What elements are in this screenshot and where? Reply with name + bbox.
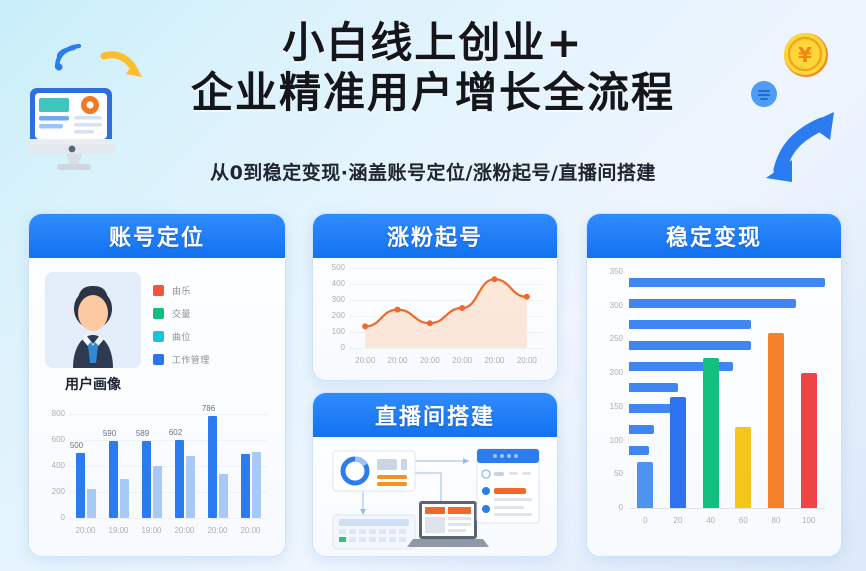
data-point[interactable] xyxy=(492,276,498,282)
column-bar[interactable] xyxy=(801,373,817,508)
y-axis-tick: 0 xyxy=(319,343,345,352)
y-axis-tick: 600 xyxy=(41,435,65,444)
y-axis-tick: 200 xyxy=(593,368,623,377)
bar-primary[interactable] xyxy=(76,453,85,518)
chart-revenue[interactable]: 050100150200250300350020406080100 xyxy=(593,266,833,546)
column-bar[interactable] xyxy=(637,462,653,508)
bar-secondary[interactable] xyxy=(87,489,96,518)
column-bar[interactable] xyxy=(670,397,686,508)
y-axis-tick: 200 xyxy=(319,311,345,320)
gridline xyxy=(69,492,267,493)
chart-followers[interactable]: 010020030040050020:0020:0020:0020:0020:0… xyxy=(319,264,549,372)
x-axis-tick: 20:00 xyxy=(479,356,511,365)
bar-value-label: 500 xyxy=(65,441,89,450)
axis-line xyxy=(629,508,825,509)
x-axis-tick: 20:00 xyxy=(349,356,381,365)
gridline xyxy=(349,348,543,349)
legend-swatch-icon xyxy=(153,308,164,319)
funnel-bar[interactable] xyxy=(629,341,751,350)
avatar xyxy=(45,272,141,368)
y-axis-tick: 0 xyxy=(41,513,65,522)
funnel-bar[interactable] xyxy=(629,446,649,455)
funnel-bar[interactable] xyxy=(629,299,796,308)
title-block: 小白线上创业+ 企业精准用户增长全流程 xyxy=(133,18,733,117)
avatar-caption: 用户画像 xyxy=(45,374,141,394)
wifi-signal-icon xyxy=(48,40,88,74)
column-bar[interactable] xyxy=(768,333,784,508)
page-header: 小白线上创业+ 企业精准用户增长全流程 从0到稳定变现·涵盖账号定位/涨粉起号/… xyxy=(0,0,866,200)
monitor-icon xyxy=(26,82,122,174)
x-axis-tick: 20:00 xyxy=(414,356,446,365)
card-title: 稳定变现 xyxy=(666,220,762,252)
x-axis-tick: 20:00 xyxy=(169,526,201,535)
bar-secondary[interactable] xyxy=(120,479,129,518)
legend-label: 由乐 xyxy=(172,284,191,297)
x-axis-tick: 20:00 xyxy=(382,356,414,365)
card-header: 账号定位 xyxy=(29,214,285,258)
data-point[interactable] xyxy=(524,294,530,300)
double-curved-arrow-icon xyxy=(760,98,846,184)
wifi-dot-icon xyxy=(55,63,62,70)
card-header: 稳定变现 xyxy=(587,214,841,258)
bar-secondary[interactable] xyxy=(153,466,162,518)
plot-area xyxy=(349,268,543,348)
bar-secondary[interactable] xyxy=(219,474,228,518)
livestream-workflow-diagram xyxy=(319,443,549,551)
y-axis-tick: 300 xyxy=(593,301,623,310)
legend-swatch-icon xyxy=(153,331,164,342)
line-series xyxy=(349,268,543,348)
page-title-line-1: 小白线上创业+ xyxy=(133,18,733,68)
x-axis-tick: 40 xyxy=(695,516,727,525)
y-axis-tick: 100 xyxy=(593,436,623,445)
legend-swatch-icon xyxy=(153,354,164,365)
legend-item[interactable]: 工作管理 xyxy=(153,353,210,366)
user-portrait-icon xyxy=(45,272,141,368)
bar-primary[interactable] xyxy=(109,441,118,518)
bar-value-label: 589 xyxy=(131,429,155,438)
y-axis-tick: 500 xyxy=(319,263,345,272)
legend-item[interactable]: 曲位 xyxy=(153,330,210,343)
bar-primary[interactable] xyxy=(241,454,250,518)
profile-row: 用户画像 由乐 交量 曲位 工作管理 xyxy=(37,266,277,394)
card-body: 用户画像 由乐 交量 曲位 工作管理 xyxy=(29,258,285,556)
y-axis-tick: 400 xyxy=(41,461,65,470)
x-axis-tick: 20:00 xyxy=(235,526,267,535)
bar-value-label: 786 xyxy=(197,404,221,413)
legend-label: 交量 xyxy=(172,307,191,320)
x-axis-tick: 19:00 xyxy=(103,526,135,535)
legend-swatch-icon xyxy=(153,285,164,296)
bar-value-label: 602 xyxy=(164,428,188,437)
data-point[interactable] xyxy=(395,307,401,313)
card-monetization[interactable]: 稳定变现 050100150200250300350020406080100 xyxy=(586,213,842,557)
y-axis-tick: 200 xyxy=(41,487,65,496)
bar-secondary[interactable] xyxy=(252,452,261,518)
card-header: 直播间搭建 xyxy=(313,393,557,437)
page-title-line-2: 企业精准用户增长全流程 xyxy=(133,68,733,118)
card-title: 涨粉起号 xyxy=(387,220,483,252)
page-subtitle: 从0到稳定变现·涵盖账号定位/涨粉起号/直播间搭建 xyxy=(133,158,733,185)
gridline xyxy=(69,440,267,441)
y-axis-tick: 100 xyxy=(319,327,345,336)
gridline xyxy=(69,466,267,467)
x-axis-tick: 80 xyxy=(760,516,792,525)
bar-primary[interactable] xyxy=(142,441,151,518)
bar-primary[interactable] xyxy=(208,416,217,518)
legend-item[interactable]: 由乐 xyxy=(153,284,210,297)
funnel-bar[interactable] xyxy=(629,425,654,434)
gridline xyxy=(69,518,267,519)
funnel-bar[interactable] xyxy=(629,320,751,329)
card-body xyxy=(313,437,557,556)
legend-item[interactable]: 交量 xyxy=(153,307,210,320)
x-axis-tick: 20:00 xyxy=(202,526,234,535)
avatar-block: 用户画像 xyxy=(45,272,141,394)
x-axis-tick: 20:00 xyxy=(511,356,543,365)
svg-text:¥: ¥ xyxy=(798,43,812,67)
legend-label: 曲位 xyxy=(172,330,191,343)
card-body: 010020030040050020:0020:0020:0020:0020:0… xyxy=(313,258,557,380)
bar-secondary[interactable] xyxy=(186,456,195,518)
y-axis-tick: 300 xyxy=(319,295,345,304)
card-follower-growth[interactable]: 涨粉起号 010020030040050020:0020:0020:0020:0… xyxy=(312,213,558,381)
chart-sessions[interactable]: 020040060080050020:0059019:0058919:00602… xyxy=(37,406,277,546)
card-account-positioning[interactable]: 账号定位 用户画像 xyxy=(28,213,286,557)
data-point[interactable] xyxy=(459,305,465,311)
card-livestream-setup[interactable]: 直播间搭建 xyxy=(312,392,558,557)
y-axis-tick: 400 xyxy=(319,279,345,288)
x-axis-tick: 20 xyxy=(662,516,694,525)
plot-area xyxy=(629,272,825,508)
y-axis-tick: 50 xyxy=(593,469,623,478)
column-bar[interactable] xyxy=(703,358,719,508)
y-axis-tick: 0 xyxy=(593,503,623,512)
legend-label: 工作管理 xyxy=(172,353,210,366)
card-title: 直播间搭建 xyxy=(375,399,495,431)
funnel-bar[interactable] xyxy=(629,278,825,287)
x-axis-tick: 0 xyxy=(629,516,661,525)
y-axis-tick: 800 xyxy=(41,409,65,418)
card-header: 涨粉起号 xyxy=(313,214,557,258)
data-point[interactable] xyxy=(427,320,433,326)
y-axis-tick: 250 xyxy=(593,334,623,343)
y-axis-tick: 150 xyxy=(593,402,623,411)
bar-value-label: 590 xyxy=(98,429,122,438)
x-axis-tick: 20:00 xyxy=(446,356,478,365)
card-body: 050100150200250300350020406080100 xyxy=(587,258,841,556)
legend: 由乐 交量 曲位 工作管理 xyxy=(153,272,210,394)
x-axis-tick: 60 xyxy=(727,516,759,525)
x-axis-tick: 100 xyxy=(793,516,825,525)
bar-primary[interactable] xyxy=(175,440,184,518)
yuan-coin-icon: ¥ xyxy=(781,30,831,80)
column-bar[interactable] xyxy=(735,427,751,508)
funnel-bar[interactable] xyxy=(629,383,678,392)
card-title: 账号定位 xyxy=(109,220,205,252)
y-axis-tick: 350 xyxy=(593,267,623,276)
x-axis-tick: 20:00 xyxy=(70,526,102,535)
gridline xyxy=(69,414,267,415)
x-axis-tick: 19:00 xyxy=(136,526,168,535)
data-point[interactable] xyxy=(362,323,368,329)
